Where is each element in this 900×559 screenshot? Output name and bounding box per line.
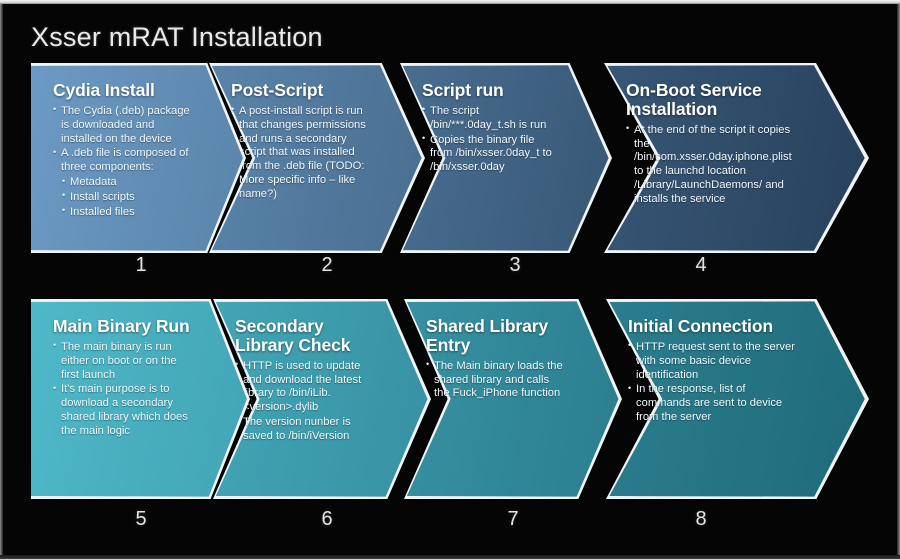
step-content: Initial ConnectionHTTP request sent to t… [606, 308, 869, 499]
window-bottom-edge [0, 555, 900, 559]
process-step-4[interactable]: On-Boot Service InstallationAt the end o… [604, 63, 869, 253]
process-step-8[interactable]: Initial ConnectionHTTP request sent to t… [606, 299, 869, 499]
step-content: Main Binary RunThe main binary is run ei… [31, 308, 250, 499]
process-step-1[interactable]: Cydia InstallThe Cydia (.deb) package is… [31, 63, 246, 253]
process-step-5[interactable]: Main Binary RunThe main binary is run ei… [31, 299, 250, 499]
process-row-runtime: Main Binary RunThe main binary is run ei… [0, 299, 900, 499]
step-bullet: HTTP is used to update and download the … [235, 360, 374, 415]
step-bullet: The Main binary loads the shared library… [426, 360, 565, 401]
step-bullet-list: The main binary is run either on boot or… [53, 341, 193, 439]
step-number-7: 7 [493, 508, 533, 531]
step-content: On-Boot Service InstallationAt the end o… [604, 72, 869, 253]
step-bullet: The script /bin/***.0day_t.sh is run [422, 105, 557, 133]
step-heading: Main Binary Run [53, 317, 193, 336]
step-bullet: A .deb file is composed of three compone… [53, 147, 190, 175]
step-bullet: The version nunber is saved to /bin/iVer… [235, 416, 374, 444]
step-bullet-list: The Cydia (.deb) package is downloaded a… [53, 105, 190, 220]
step-bullet-list: HTTP request sent to the server with som… [628, 341, 801, 425]
step-bullet: Copies the binary file from /bin/xsser.0… [422, 134, 557, 175]
step-heading: Secondary Library Check [235, 317, 374, 355]
step-bullet-list: The script /bin/***.0day_t.sh is runCopi… [422, 105, 557, 175]
step-heading: Script run [422, 81, 557, 100]
step-bullet: The main binary is run either on boot or… [53, 341, 193, 382]
step-bullet-list: The Main binary loads the shared library… [426, 360, 565, 401]
step-bullet: A post-install script is run that change… [231, 105, 369, 202]
step-number-4: 4 [681, 254, 721, 277]
step-heading: Initial Connection [628, 317, 801, 336]
step-bullet: It's main purpose is to download a secon… [53, 383, 193, 438]
step-number-5: 5 [121, 508, 161, 531]
step-heading: Cydia Install [53, 81, 190, 100]
step-bullet: Install scripts [53, 191, 190, 205]
step-bullet-list: A post-install script is run that change… [231, 105, 369, 202]
step-content: Script runThe script /bin/***.0day_t.sh … [400, 72, 612, 253]
step-bullet-list: At the end of the script it copies the /… [626, 124, 800, 207]
step-number-6: 6 [307, 508, 347, 531]
step-number-row-top: 1234 [0, 254, 900, 288]
step-number-2: 2 [307, 254, 347, 277]
step-number-1: 1 [121, 254, 161, 277]
step-number-8: 8 [681, 508, 721, 531]
window-top-edge [0, 0, 900, 4]
step-bullet-list: HTTP is used to update and download the … [235, 360, 374, 444]
slide-title: Xsser mRAT Installation [31, 22, 323, 53]
step-content: Shared Library EntryThe Main binary load… [404, 308, 622, 499]
step-heading: On-Boot Service Installation [626, 81, 800, 119]
process-row-installation: Cydia InstallThe Cydia (.deb) package is… [0, 63, 900, 253]
process-step-3[interactable]: Script runThe script /bin/***.0day_t.sh … [400, 63, 612, 253]
step-bullet: HTTP request sent to the server with som… [628, 341, 801, 382]
step-content: Cydia InstallThe Cydia (.deb) package is… [31, 72, 246, 253]
step-bullet: The Cydia (.deb) package is downloaded a… [53, 105, 190, 146]
step-bullet: At the end of the script it copies the /… [626, 124, 800, 207]
step-bullet: Installed files [53, 206, 190, 220]
step-heading: Shared Library Entry [426, 317, 565, 355]
step-bullet: In the response, list of commands are se… [628, 383, 801, 424]
process-step-7[interactable]: Shared Library EntryThe Main binary load… [404, 299, 622, 499]
slide-canvas: Xsser mRAT Installation Cydia InstallThe… [0, 0, 900, 559]
step-heading: Post-Script [231, 81, 369, 100]
step-number-row-bottom: 5678 [0, 508, 900, 542]
step-number-3: 3 [495, 254, 535, 277]
step-bullet: Metadata [53, 176, 190, 190]
